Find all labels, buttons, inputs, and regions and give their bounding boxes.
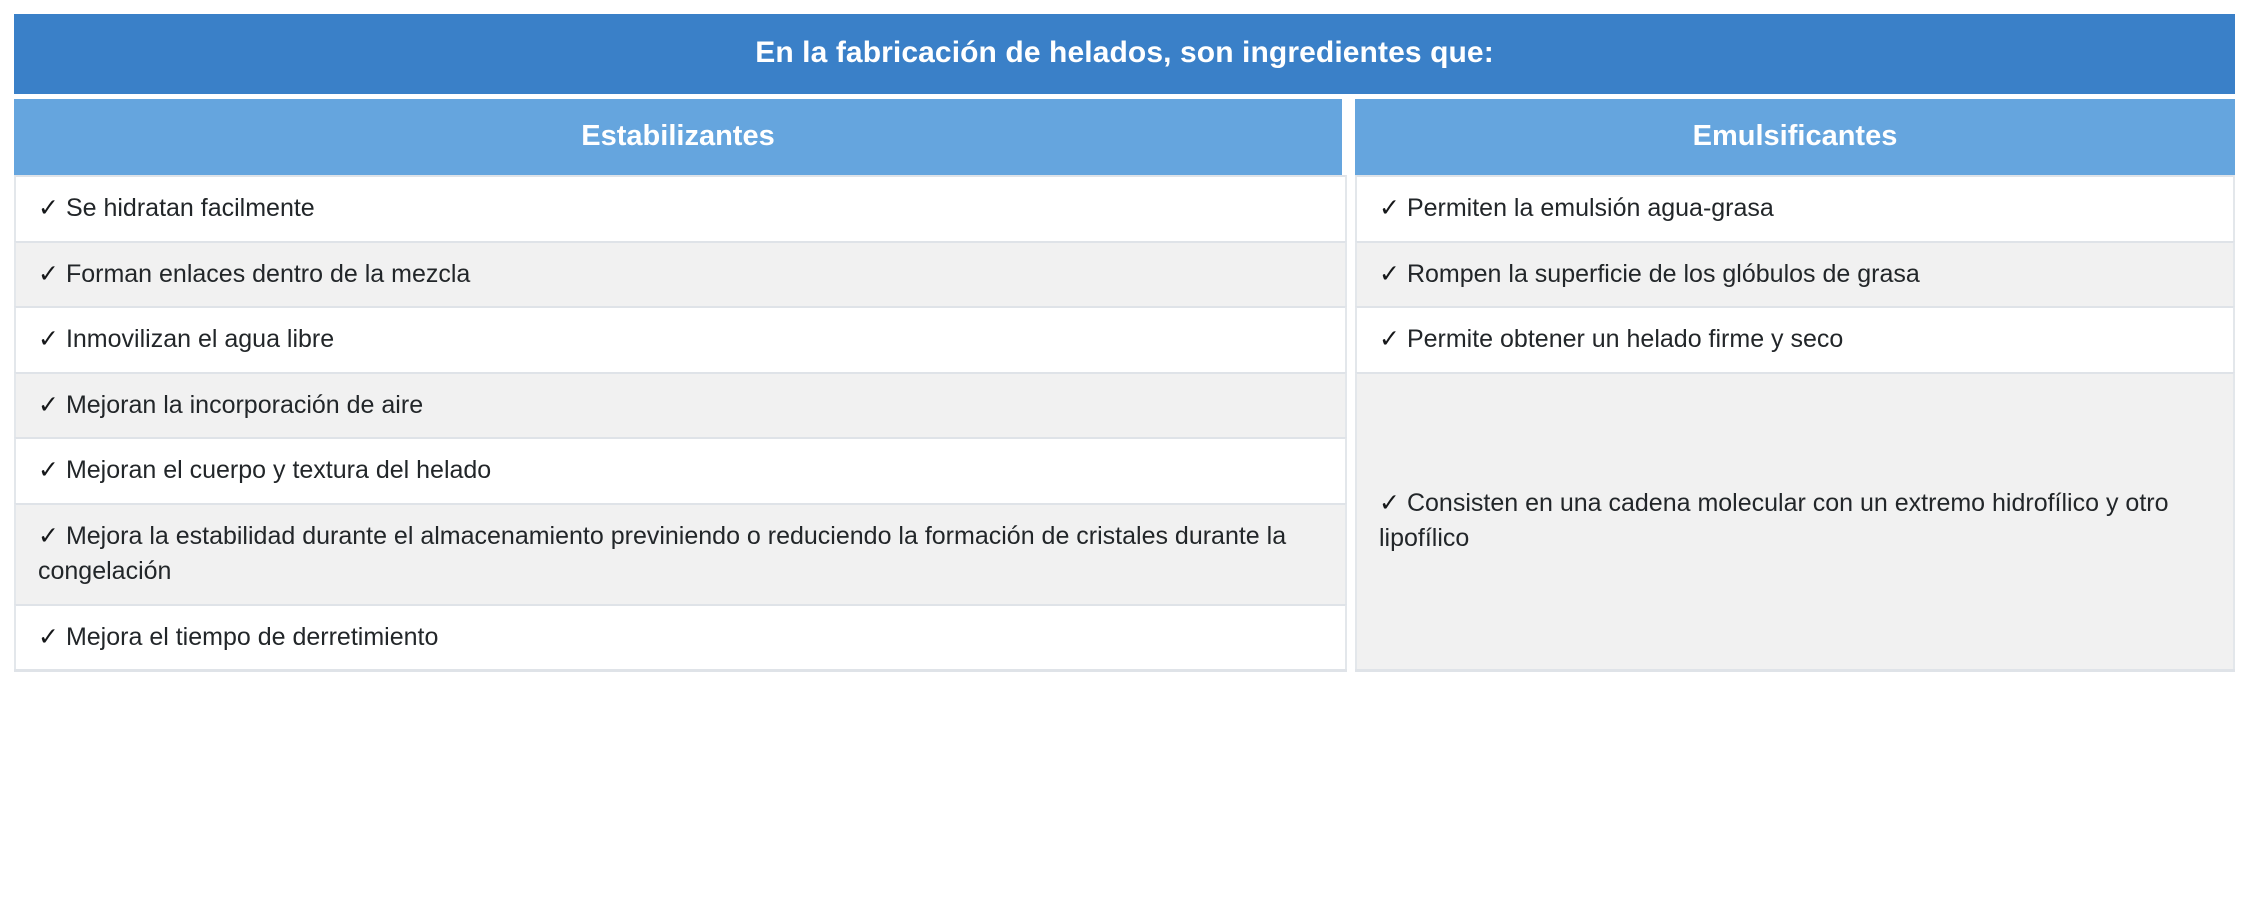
emulsificantes-item-2: ✓Permite obtener un helado firme y seco [1355,306,2235,372]
check-icon: ✓ [38,456,59,484]
item-label: Permite obtener un helado firme y seco [1407,325,1843,353]
estabilizantes-item-1: ✓Forman enlaces dentro de la mezcla [14,241,1347,307]
item-label: Se hidratan facilmente [66,194,315,222]
column-header-emulsificantes: Emulsificantes [1355,94,2235,175]
item-label: Inmovilizan el agua libre [66,325,334,353]
check-icon: ✓ [38,522,59,550]
item-label: Forman enlaces dentro de la mezcla [66,260,470,288]
header-gap [1347,94,1355,175]
item-label: Mejora la estabilidad durante el almacen… [38,522,1286,586]
check-icon: ✓ [1379,325,1400,353]
estabilizantes-item-6: ✓Mejora el tiempo de derretimiento [14,604,1347,670]
estabilizantes-item-3: ✓Mejoran la incorporación de aire [14,372,1347,438]
emulsificantes-item-3: ✓Consisten en una cadena molecular con u… [1355,372,2235,670]
check-icon: ✓ [38,391,59,419]
item-label: Rompen la superficie de los glóbulos de … [1407,260,1920,288]
check-icon: ✓ [1379,260,1400,288]
column-header-estabilizantes: Estabilizantes [14,94,1347,175]
item-label: Mejoran la incorporación de aire [66,391,423,419]
table-row: ✓Forman enlaces dentro de la mezcla ✓Rom… [14,241,2235,307]
emulsificantes-item-1: ✓Rompen la superficie de los glóbulos de… [1355,241,2235,307]
column-gap [1347,306,1355,372]
estabilizantes-item-2: ✓Inmovilizan el agua libre [14,306,1347,372]
check-icon: ✓ [1379,489,1400,517]
table-row: ✓Inmovilizan el agua libre ✓Permite obte… [14,306,2235,372]
table-row: ✓Mejoran la incorporación de aire ✓Consi… [14,372,2235,438]
comparison-table: En la fabricación de helados, son ingred… [14,14,2235,672]
table-title-row: En la fabricación de helados, son ingred… [14,14,2235,94]
column-gap [1347,372,1355,438]
bottom-rule-left [14,669,1347,672]
bottom-rule-right [1355,669,2235,672]
column-gap [1347,241,1355,307]
column-gap [1347,604,1355,670]
item-label: Mejoran el cuerpo y textura del helado [66,456,491,484]
item-label: Permiten la emulsión agua-grasa [1407,194,1774,222]
table-header-row: Estabilizantes Emulsificantes [14,94,2235,175]
check-icon: ✓ [38,194,59,222]
check-icon: ✓ [38,260,59,288]
check-icon: ✓ [1379,194,1400,222]
column-gap [1347,175,1355,241]
column-gap [1347,503,1355,604]
item-label: Consisten en una cadena molecular con un… [1379,489,2169,553]
page-container: En la fabricación de helados, son ingred… [0,0,2250,916]
check-icon: ✓ [38,325,59,353]
page-title: En la fabricación de helados, son ingred… [14,14,2235,94]
table-row: ✓Se hidratan facilmente ✓Permiten la emu… [14,175,2235,241]
estabilizantes-item-0: ✓Se hidratan facilmente [14,175,1347,241]
table-bottom-rule [14,669,2235,672]
item-label: Mejora el tiempo de derretimiento [66,623,438,651]
emulsificantes-item-0: ✓Permiten la emulsión agua-grasa [1355,175,2235,241]
check-icon: ✓ [38,623,59,651]
column-gap [1347,437,1355,503]
estabilizantes-item-4: ✓Mejoran el cuerpo y textura del helado [14,437,1347,503]
column-gap [1347,669,1355,672]
estabilizantes-item-5: ✓Mejora la estabilidad durante el almace… [14,503,1347,604]
